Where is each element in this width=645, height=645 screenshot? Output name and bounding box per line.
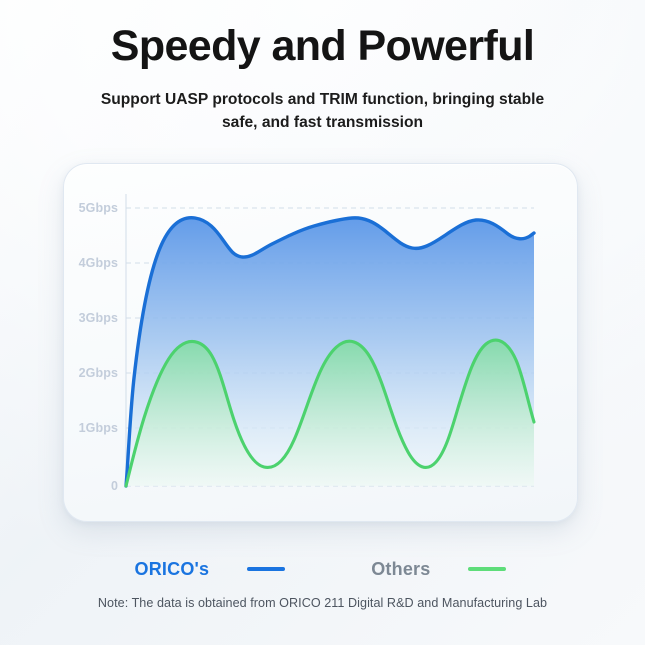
subtitle-line-1: Support UASP protocols and TRIM function… [101, 91, 544, 108]
legend-label-others: Others [371, 559, 430, 580]
subtitle-line-2: safe, and fast transmission [72, 111, 573, 134]
y-axis-labels: 5Gbps 4Gbps 3Gbps 2Gbps 1Gbps 0 [64, 164, 579, 523]
page-subtitle: Support UASP protocols and TRIM function… [72, 88, 573, 135]
y-tick-1gbps: 1Gbps [60, 421, 118, 435]
chart-area: 5Gbps 4Gbps 3Gbps 2Gbps 1Gbps 0 [64, 164, 577, 521]
page-title: Speedy and Powerful [0, 23, 645, 69]
legend-item-orico[interactable]: ORICO's [135, 559, 210, 580]
y-tick-2gbps: 2Gbps [60, 366, 118, 380]
y-tick-4gbps: 4Gbps [60, 256, 118, 270]
y-tick-zero: 0 [60, 479, 118, 493]
chart-legend: ORICO's Others [63, 555, 578, 583]
y-tick-3gbps: 3Gbps [60, 311, 118, 325]
legend-label-orico: ORICO's [135, 559, 210, 580]
chart-card: 5Gbps 4Gbps 3Gbps 2Gbps 1Gbps 0 [63, 163, 578, 522]
promo-page: Speedy and Powerful Support UASP protoco… [0, 0, 645, 645]
legend-swatch-others-line-icon [468, 567, 506, 571]
legend-item-others[interactable]: Others [371, 559, 430, 580]
legend-swatch-orico-line-icon [247, 567, 285, 571]
chart-note: Note: The data is obtained from ORICO 21… [40, 596, 605, 610]
y-tick-5gbps: 5Gbps [60, 201, 118, 215]
